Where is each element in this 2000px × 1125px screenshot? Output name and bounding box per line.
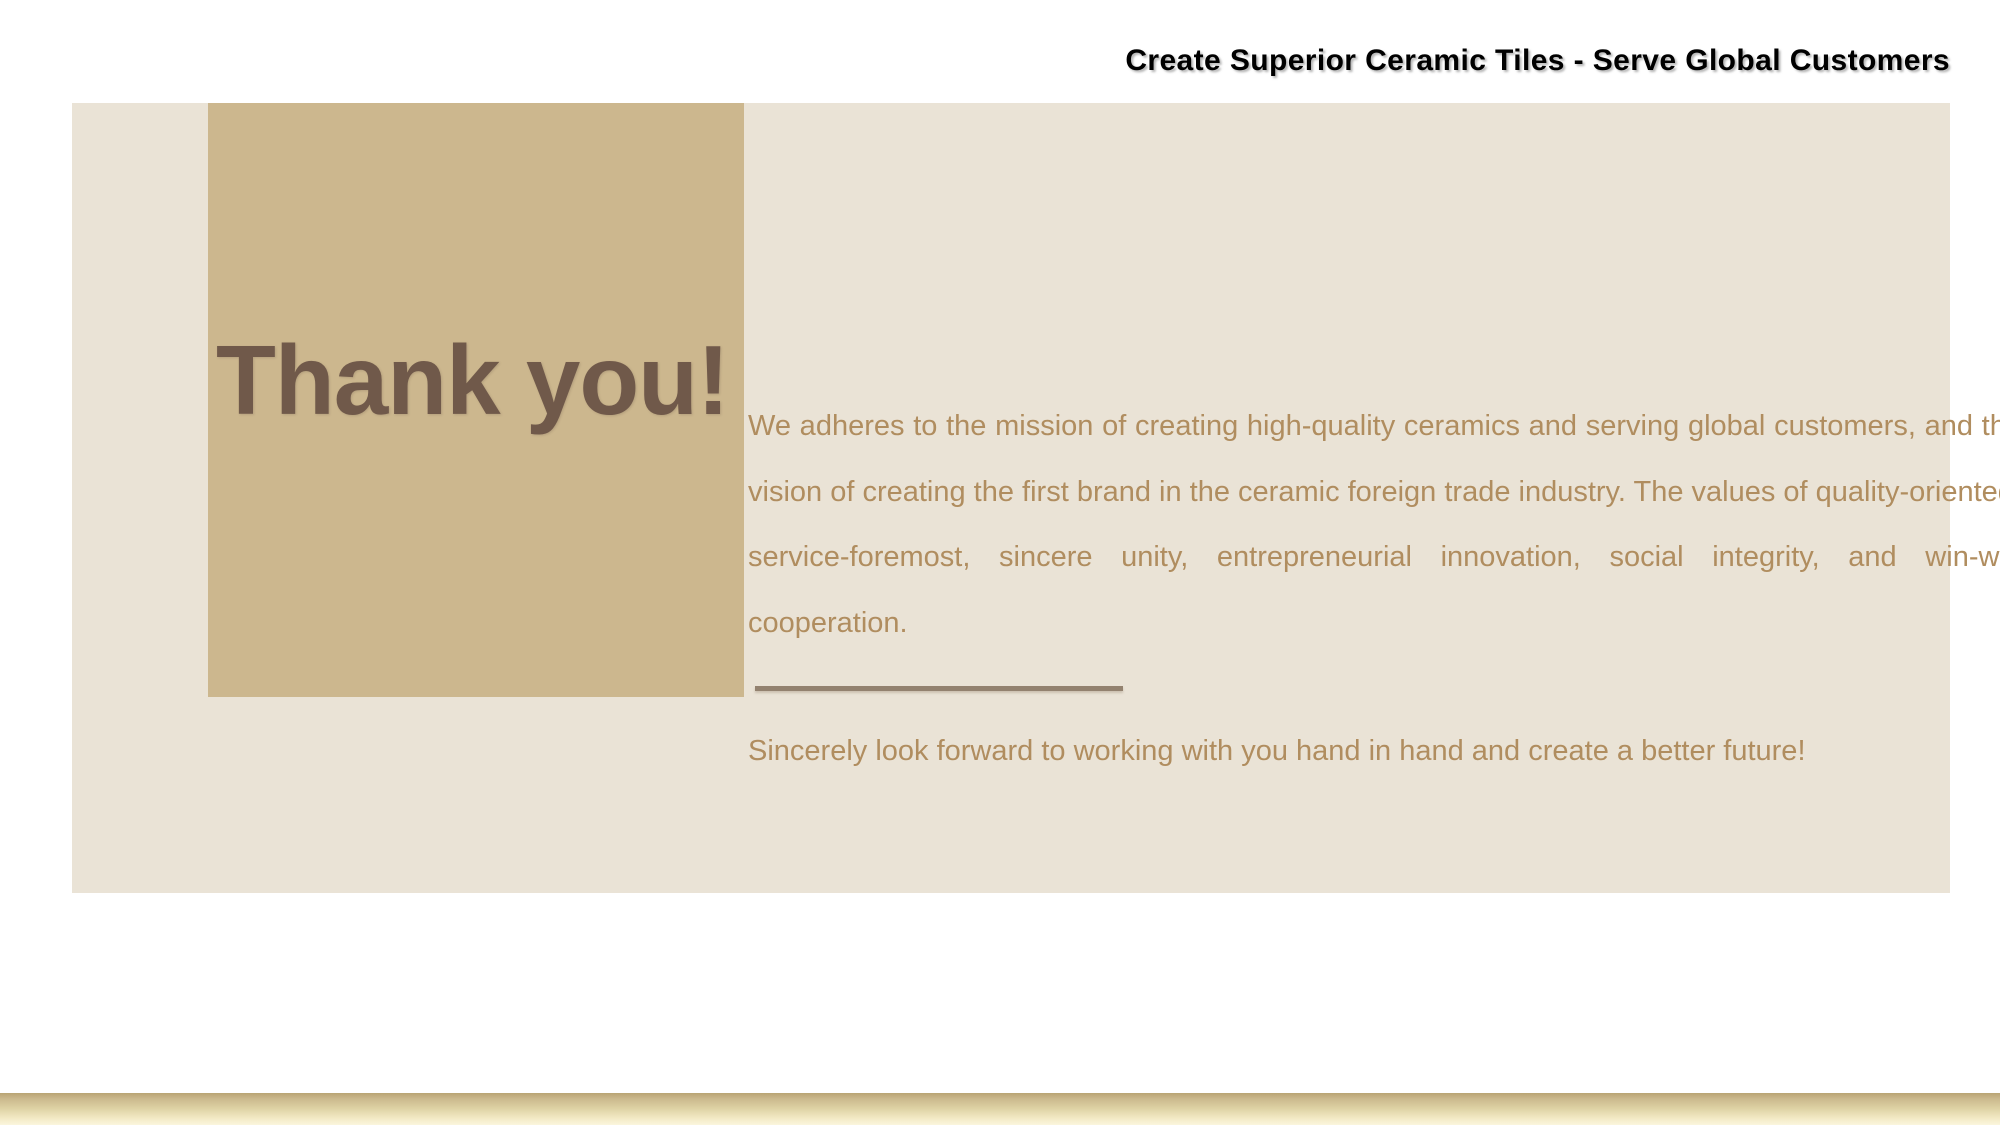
closing-paragraph: Sincerely look forward to working with y…	[748, 719, 2000, 785]
thank-you-heading: Thank you!	[208, 331, 744, 429]
page-title: Create Superior Ceramic Tiles - Serve Gl…	[0, 44, 1950, 78]
accent-box: Thank you!	[208, 103, 744, 697]
slide-canvas: Create Superior Ceramic Tiles - Serve Gl…	[0, 0, 2000, 1125]
bottom-gradient-strip	[0, 1093, 2000, 1125]
divider-container	[748, 686, 2000, 691]
body-text-block: We adheres to the mission of creating hi…	[748, 394, 2000, 785]
content-panel: Thank you! We adheres to the mission of …	[72, 103, 1950, 893]
mission-paragraph: We adheres to the mission of creating hi…	[748, 394, 2000, 656]
section-divider	[755, 686, 1123, 691]
